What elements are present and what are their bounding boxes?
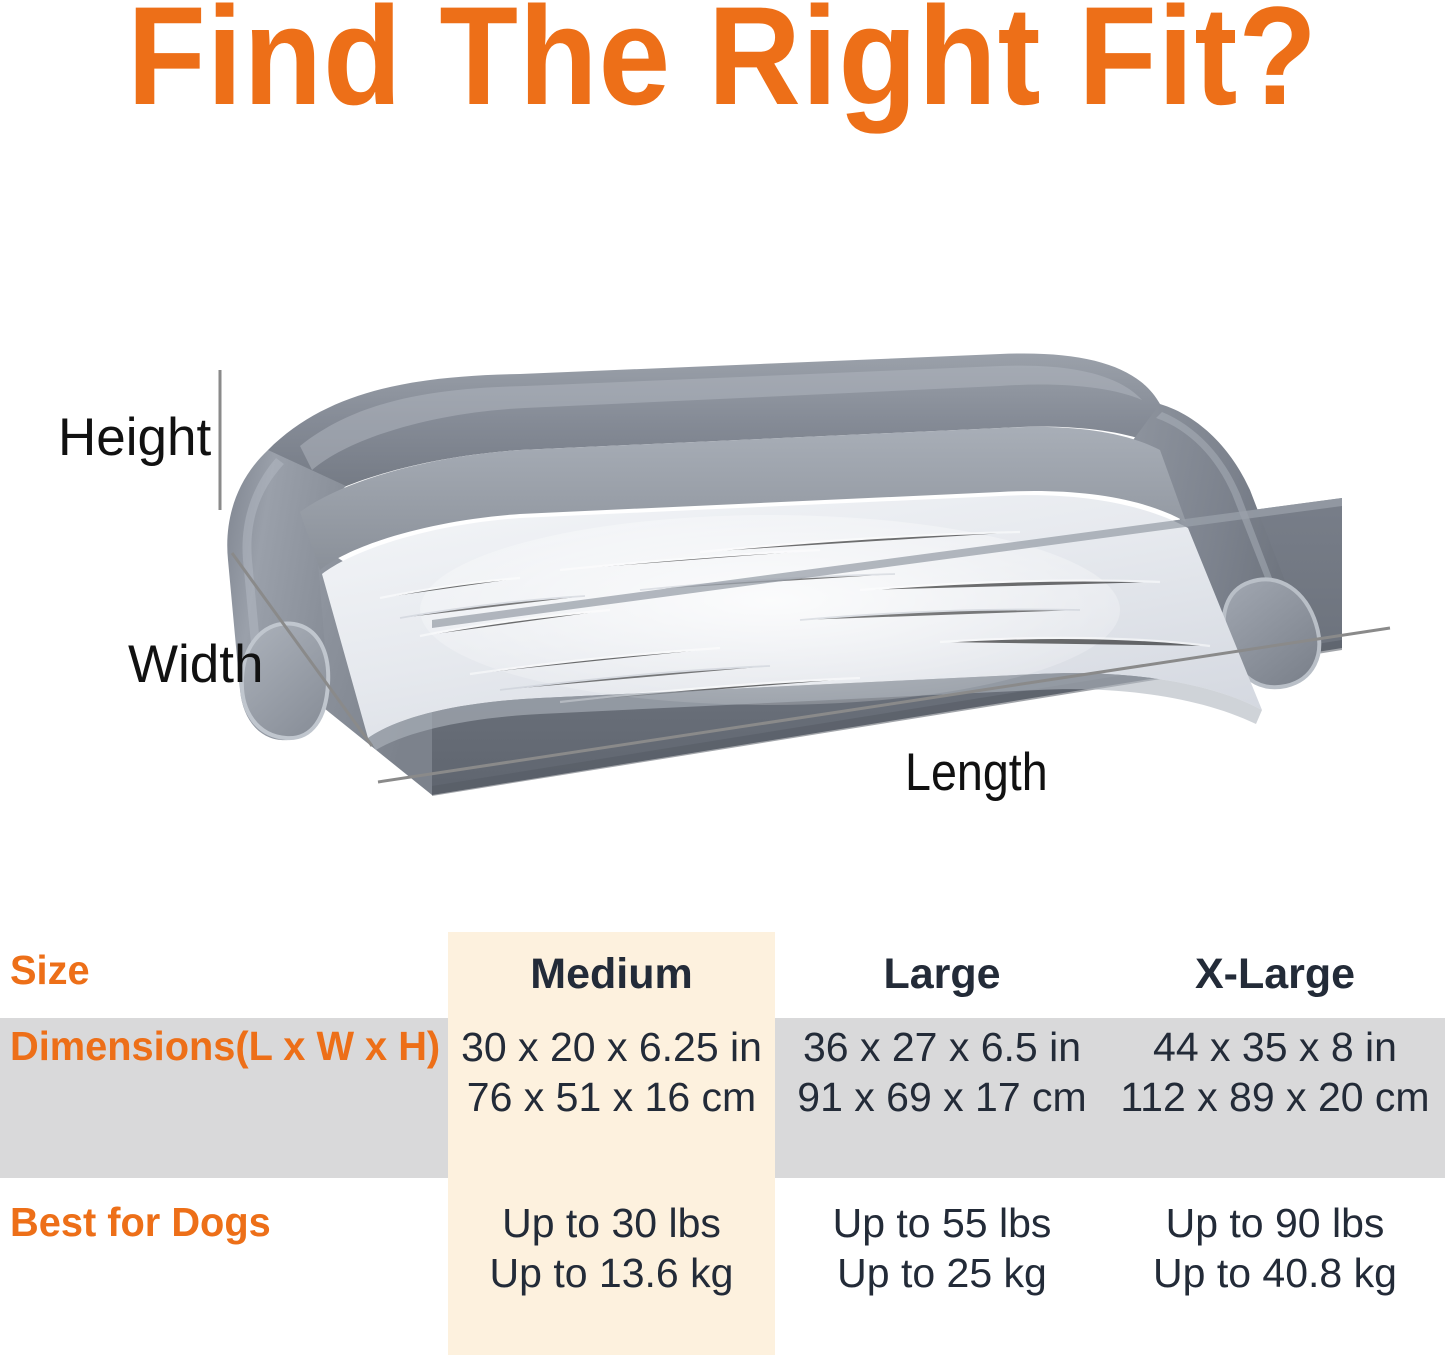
dimensions-in-medium: 30 x 20 x 6.25 in (448, 1022, 775, 1072)
dogs-lbs-medium: Up to 30 lbs (448, 1198, 775, 1248)
dimensions-in-xlarge: 44 x 35 x 8 in (1110, 1022, 1440, 1072)
cell-dogs-xlarge: Up to 90 lbs Up to 40.8 kg (1110, 1198, 1440, 1298)
dog-bed-illustration (0, 150, 1445, 850)
cell-dogs-medium: Up to 30 lbs Up to 13.6 kg (448, 1198, 775, 1298)
cell-dimensions-medium: 30 x 20 x 6.25 in 76 x 51 x 16 cm (448, 1022, 775, 1122)
dogs-kg-medium: Up to 13.6 kg (448, 1248, 775, 1298)
dogs-lbs-xlarge: Up to 90 lbs (1110, 1198, 1440, 1248)
dogs-kg-large: Up to 25 kg (782, 1248, 1102, 1298)
dogs-lbs-large: Up to 55 lbs (782, 1198, 1102, 1248)
column-header-large: Large (782, 948, 1102, 1000)
size-chart-table: Size Dimensions(L x W x H) Best for Dogs… (0, 910, 1445, 1355)
row-label-best-for-dogs: Best for Dogs (10, 1202, 271, 1243)
height-label: Height (58, 411, 211, 464)
column-header-medium: Medium (448, 948, 775, 1000)
page-title: Find The Right Fit? (58, 0, 1387, 126)
cell-dimensions-xlarge: 44 x 35 x 8 in 112 x 89 x 20 cm (1110, 1022, 1440, 1122)
dimensions-in-large: 36 x 27 x 6.5 in (782, 1022, 1102, 1072)
dimensions-cm-large: 91 x 69 x 17 cm (782, 1072, 1102, 1122)
column-header-xlarge: X-Large (1110, 948, 1440, 1000)
width-label: Width (128, 638, 263, 691)
cell-dogs-large: Up to 55 lbs Up to 25 kg (782, 1198, 1102, 1298)
length-label: Length (905, 746, 1048, 799)
cell-dimensions-large: 36 x 27 x 6.5 in 91 x 69 x 17 cm (782, 1022, 1102, 1122)
dimensions-cm-medium: 76 x 51 x 16 cm (448, 1072, 775, 1122)
row-label-size: Size (10, 950, 90, 991)
dimensions-cm-xlarge: 112 x 89 x 20 cm (1110, 1072, 1440, 1122)
row-label-dimensions: Dimensions(L x W x H) (10, 1026, 440, 1067)
product-image-area (0, 150, 1445, 850)
dogs-kg-xlarge: Up to 40.8 kg (1110, 1248, 1440, 1298)
